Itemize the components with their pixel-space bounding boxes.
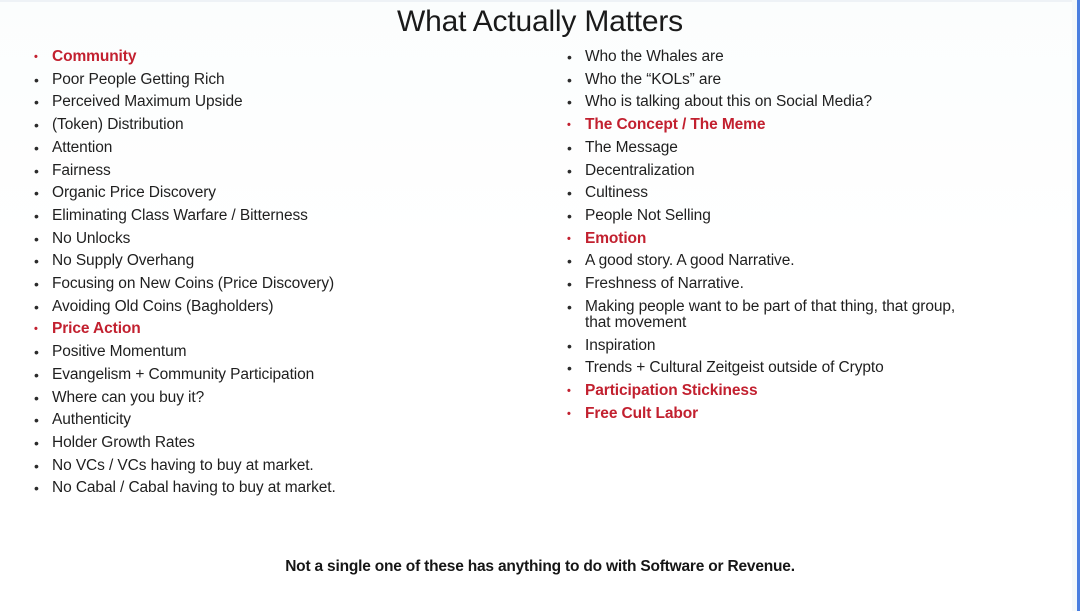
list-item: Price Action (34, 318, 534, 341)
list-item: No Supply Overhang (34, 250, 534, 273)
list-item: Evangelism + Community Participation (34, 364, 534, 387)
list-item: Who the “KOLs” are (567, 69, 1067, 92)
list-item: Trends + Cultural Zeitgeist outside of C… (567, 357, 1067, 380)
list-item: Decentralization (567, 160, 1067, 183)
list-item: Who is talking about this on Social Medi… (567, 91, 1067, 114)
list-item: No Cabal / Cabal having to buy at market… (34, 477, 534, 500)
list-item: Organic Price Discovery (34, 182, 534, 205)
list-item: The Concept / The Meme (567, 114, 1067, 137)
list-item: A good story. A good Narrative. (567, 250, 1067, 273)
list-item: Focusing on New Coins (Price Discovery) (34, 273, 534, 296)
list-item: Emotion (567, 228, 1067, 251)
list-item: No VCs / VCs having to buy at market. (34, 455, 534, 478)
footer-statement: Not a single one of these has anything t… (0, 558, 1080, 576)
slide-canvas: What Actually Matters CommunityPoor Peop… (0, 0, 1080, 611)
list-item: Community (34, 46, 534, 69)
list-item: Free Cult Labor (567, 403, 1067, 426)
list-item: Where can you buy it? (34, 387, 534, 410)
right-column: Who the Whales areWho the “KOLs” areWho … (567, 46, 1067, 426)
list-item: Attention (34, 137, 534, 160)
list-item: Participation Stickiness (567, 380, 1067, 403)
list-item: People Not Selling (567, 205, 1067, 228)
right-bullet-list: Who the Whales areWho the “KOLs” areWho … (567, 46, 1067, 426)
list-item: Positive Momentum (34, 341, 534, 364)
list-item: Making people want to be part of that th… (567, 296, 1067, 335)
list-item: Freshness of Narrative. (567, 273, 1067, 296)
slide-top-edge (0, 0, 1080, 2)
list-item: Who the Whales are (567, 46, 1067, 69)
list-item: Eliminating Class Warfare / Bitterness (34, 205, 534, 228)
left-bullet-list: CommunityPoor People Getting RichPerceiv… (34, 46, 534, 500)
list-item: Perceived Maximum Upside (34, 91, 534, 114)
list-item: Inspiration (567, 335, 1067, 358)
list-item: Holder Growth Rates (34, 432, 534, 455)
page-title: What Actually Matters (0, 3, 1080, 41)
list-item: The Message (567, 137, 1067, 160)
list-item: Poor People Getting Rich (34, 69, 534, 92)
list-item: Avoiding Old Coins (Bagholders) (34, 296, 534, 319)
list-item: (Token) Distribution (34, 114, 534, 137)
list-item: Cultiness (567, 182, 1067, 205)
left-column: CommunityPoor People Getting RichPerceiv… (34, 46, 534, 500)
list-item: Fairness (34, 160, 534, 183)
list-item: No Unlocks (34, 228, 534, 251)
list-item: Authenticity (34, 409, 534, 432)
